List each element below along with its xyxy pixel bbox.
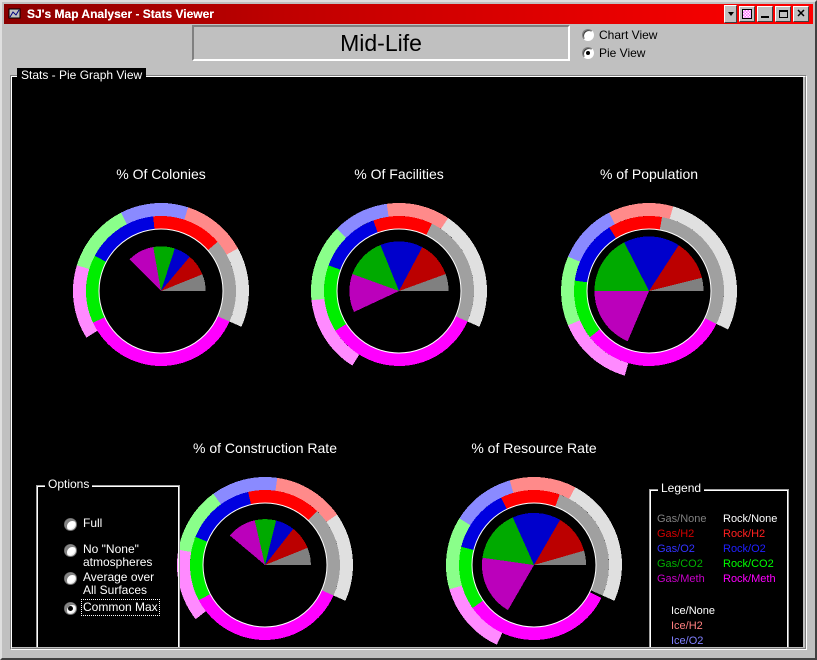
- legend-entry-ice-o2: Ice/O2: [671, 635, 781, 647]
- toolbar: Mid-Life Chart View Pie View: [4, 24, 813, 68]
- window-title: SJ's Map Analyser - Stats Viewer: [27, 7, 214, 21]
- legend-column-ice: Ice/None Ice/H2 Ice/O2 Ice/CO2 Ice/Meth: [671, 605, 781, 647]
- legend-entry-gas-none: Gas/None: [657, 513, 717, 526]
- stats-group: Stats - Pie Graph View % of Resource Rat…: [6, 68, 811, 654]
- legend-columns: Gas/None Gas/H2 Gas/O2 Gas/CO2 Gas/Meth …: [657, 513, 783, 586]
- pie-chart-svg-resource_rate: [433, 474, 635, 647]
- pie-chart-facilities: % Of Facilities: [298, 166, 500, 388]
- option-no-none-atmospheres-label: No "None" atmospheres: [83, 543, 152, 569]
- stats-group-title: Stats - Pie Graph View: [17, 68, 146, 82]
- minimize-button[interactable]: [757, 6, 773, 22]
- option-full-label: Full: [83, 517, 102, 530]
- option-average-over-all-surfaces[interactable]: Average over All Surfaces: [64, 571, 154, 597]
- title-bar: SJ's Map Analyser - Stats Viewer ✕: [4, 4, 813, 24]
- legend-column-gas: Gas/None Gas/H2 Gas/O2 Gas/CO2 Gas/Meth: [657, 513, 717, 586]
- pie-chart-title-facilities: % Of Facilities: [298, 166, 500, 182]
- option-common-max[interactable]: Common Max: [64, 601, 158, 615]
- legend-entry-ice-none: Ice/None: [671, 605, 781, 618]
- pie-chart-svg-population: [548, 200, 750, 382]
- option-common-max-label: Common Max: [83, 601, 158, 614]
- legend-entry-rock-none: Rock/None: [723, 513, 783, 526]
- option-average-over-all-surfaces-indicator[interactable]: [64, 572, 77, 585]
- option-common-max-indicator[interactable]: [64, 602, 77, 615]
- pattern-button[interactable]: [739, 6, 755, 22]
- legend-entry-gas-co2: Gas/CO2: [657, 558, 717, 571]
- chevron-down-icon[interactable]: [724, 5, 737, 23]
- legend-entry-rock-co2: Rock/CO2: [723, 558, 783, 571]
- app-window: SJ's Map Analyser - Stats Viewer ✕ Mid-L…: [0, 0, 817, 660]
- pie-chart-resource_rate: % of Resource Rate: [433, 440, 635, 647]
- window-controls: ✕: [724, 5, 809, 23]
- radio-chart-view-indicator[interactable]: [582, 29, 594, 41]
- options-group: Options Full No "None" atmospheres Avera…: [36, 479, 180, 647]
- option-no-none-atmospheres[interactable]: No "None" atmospheres: [64, 543, 152, 569]
- legend-entry-ice-h2: Ice/H2: [671, 620, 781, 633]
- radio-chart-view[interactable]: Chart View: [582, 27, 762, 43]
- option-full-indicator[interactable]: [64, 518, 77, 531]
- view-mode-group: Chart View Pie View: [582, 27, 762, 67]
- map-name-display: Mid-Life: [192, 25, 570, 61]
- radio-pie-view-label: Pie View: [599, 46, 645, 60]
- legend-entry-rock-meth: Rock/Meth: [723, 573, 783, 586]
- radio-pie-view-indicator[interactable]: [582, 47, 594, 59]
- radio-pie-view[interactable]: Pie View: [582, 45, 762, 61]
- pie-chart-title-population: % of Population: [548, 166, 750, 182]
- pie-chart-svg-facilities: [298, 200, 500, 382]
- pie-graph-canvas: % of Resource Rate% of Construction Rate…: [12, 77, 803, 647]
- pie-chart-construction_rate: % of Construction Rate: [164, 440, 366, 647]
- legend-entry-gas-h2: Gas/H2: [657, 528, 717, 541]
- pie-chart-title-construction_rate: % of Construction Rate: [164, 440, 366, 456]
- legend-group: Legend Gas/None Gas/H2 Gas/O2 Gas/CO2 Ga…: [649, 483, 789, 647]
- pie-chart-population: % of Population: [548, 166, 750, 388]
- legend-entry-gas-o2: Gas/O2: [657, 543, 717, 556]
- legend-column-rock: Rock/None Rock/H2 Rock/O2 Rock/CO2 Rock/…: [723, 513, 783, 586]
- app-icon: [8, 7, 22, 21]
- maximize-button[interactable]: [775, 6, 791, 22]
- legend-entry-rock-h2: Rock/H2: [723, 528, 783, 541]
- pie-chart-svg-construction_rate: [164, 474, 366, 647]
- option-average-over-all-surfaces-label: Average over All Surfaces: [83, 571, 154, 597]
- pie-chart-title-colonies: % Of Colonies: [60, 166, 262, 182]
- legend-entry-gas-meth: Gas/Meth: [657, 573, 717, 586]
- close-button[interactable]: ✕: [793, 6, 809, 22]
- option-full[interactable]: Full: [64, 517, 102, 531]
- legend-entry-rock-o2: Rock/O2: [723, 543, 783, 556]
- pie-chart-svg-colonies: [60, 200, 262, 382]
- options-title: Options: [45, 478, 92, 491]
- pie-chart-colonies: % Of Colonies: [60, 166, 262, 388]
- radio-chart-view-label: Chart View: [599, 28, 657, 42]
- option-no-none-atmospheres-indicator[interactable]: [64, 544, 77, 557]
- legend-title: Legend: [658, 482, 704, 495]
- pie-chart-title-resource_rate: % of Resource Rate: [433, 440, 635, 456]
